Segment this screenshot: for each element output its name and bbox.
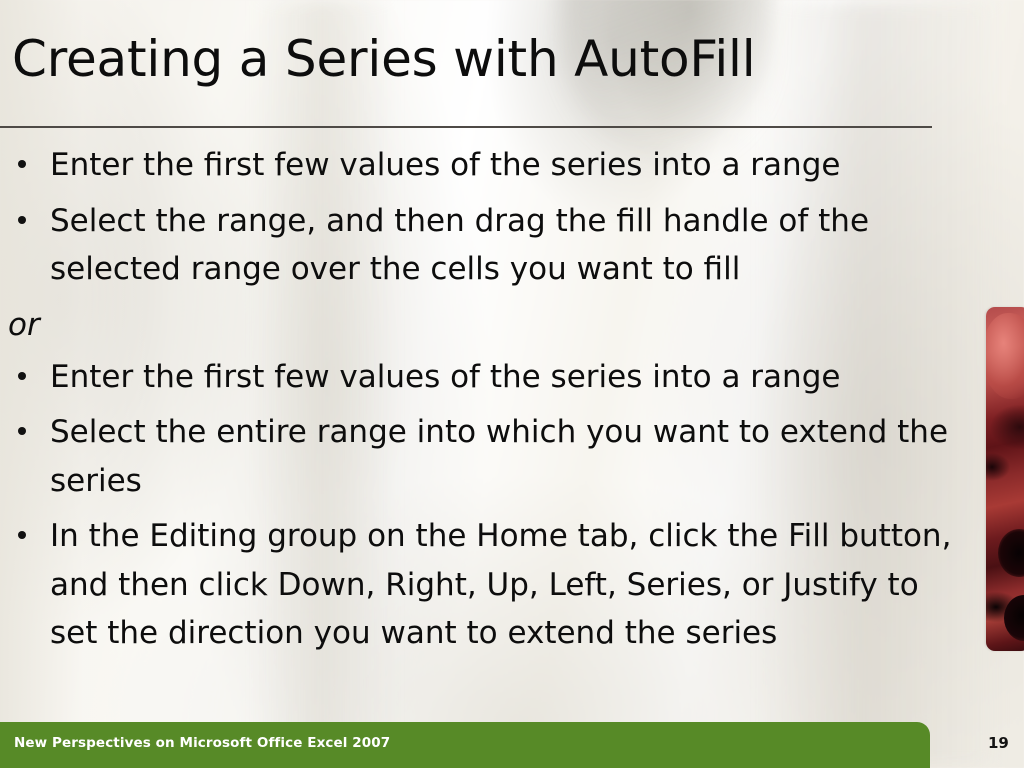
title-divider [0, 126, 932, 128]
bullet-dot-icon [18, 160, 26, 168]
footer-title: New Perspectives on Microsoft Office Exc… [14, 735, 390, 751]
slide-body: Enter the first few values of the series… [8, 141, 960, 665]
alternative-separator: or [8, 307, 960, 344]
bullet-text: Enter the first few values of the series… [50, 147, 840, 183]
bullet-text: In the Editing group on the Home tab, cl… [50, 518, 951, 651]
bullet-item: Enter the first few values of the series… [8, 353, 960, 402]
bullet-item: Select the range, and then drag the fill… [8, 197, 960, 294]
bullet-dot-icon [18, 531, 26, 539]
slide: Creating a Series with AutoFill Enter th… [0, 0, 1024, 768]
poppy-photo-strip [986, 307, 1024, 651]
bullet-dot-icon [18, 216, 26, 224]
bullet-dot-icon [18, 372, 26, 380]
bullet-text: Enter the first few values of the series… [50, 359, 840, 395]
bullet-text: Select the entire range into which you w… [50, 414, 948, 499]
bullet-item: Enter the first few values of the series… [8, 141, 960, 190]
bullet-dot-icon [18, 427, 26, 435]
bullet-item: In the Editing group on the Home tab, cl… [8, 512, 960, 658]
page-number: 19 [988, 734, 1018, 752]
bullet-item: Select the entire range into which you w… [8, 408, 960, 505]
slide-title: Creating a Series with AutoFill [12, 33, 930, 86]
bullet-text: Select the range, and then drag the fill… [50, 203, 869, 288]
